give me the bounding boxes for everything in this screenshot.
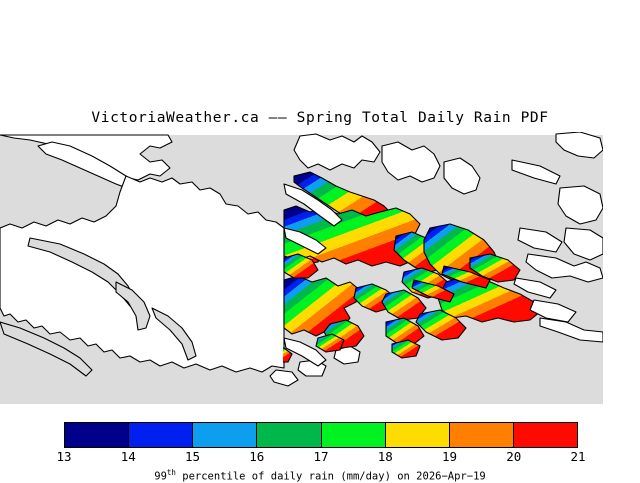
colorbar-tick-1: 14 <box>121 449 136 464</box>
colorbar-tick-4: 17 <box>313 449 328 464</box>
colorbar-band-0 <box>65 423 129 447</box>
colorbar-band-6 <box>450 423 514 447</box>
colorbar-band-3 <box>257 423 321 447</box>
colorbar-tick-3: 16 <box>249 449 264 464</box>
colorbar-tick-7: 20 <box>506 449 521 464</box>
page-title: VictoriaWeather.ca —— Spring Total Daily… <box>0 110 640 126</box>
colorbar-band-4 <box>322 423 386 447</box>
colorbar-gradient <box>64 422 578 448</box>
colorbar-caption-rest: percentile of daily rain (mm/day) on 202… <box>176 471 486 483</box>
colorbar-band-5 <box>386 423 450 447</box>
colorbar-caption-prefix: 99 <box>154 471 167 483</box>
colorbar-band-1 <box>129 423 193 447</box>
map-panel <box>0 132 640 408</box>
colorbar-caption-superscript: th <box>167 468 176 477</box>
weather-map <box>0 132 640 408</box>
colorbar-tick-labels: 13 14 15 16 17 18 19 20 21 <box>0 449 640 465</box>
colorbar-band-2 <box>193 423 257 447</box>
colorbar-tick-6: 19 <box>442 449 457 464</box>
colorbar-caption: 99th percentile of daily rain (mm/day) o… <box>0 468 640 483</box>
colorbar-band-7 <box>514 423 577 447</box>
map-bottom-white-strip <box>0 404 640 408</box>
colorbar-tick-8: 21 <box>570 449 585 464</box>
colorbar-tick-5: 18 <box>378 449 393 464</box>
map-right-white-strip <box>603 132 640 408</box>
colorbar-tick-0: 13 <box>56 449 71 464</box>
colorbar-panel: 13 14 15 16 17 18 19 20 21 99th percenti… <box>0 415 640 480</box>
colorbar-tick-2: 15 <box>185 449 200 464</box>
